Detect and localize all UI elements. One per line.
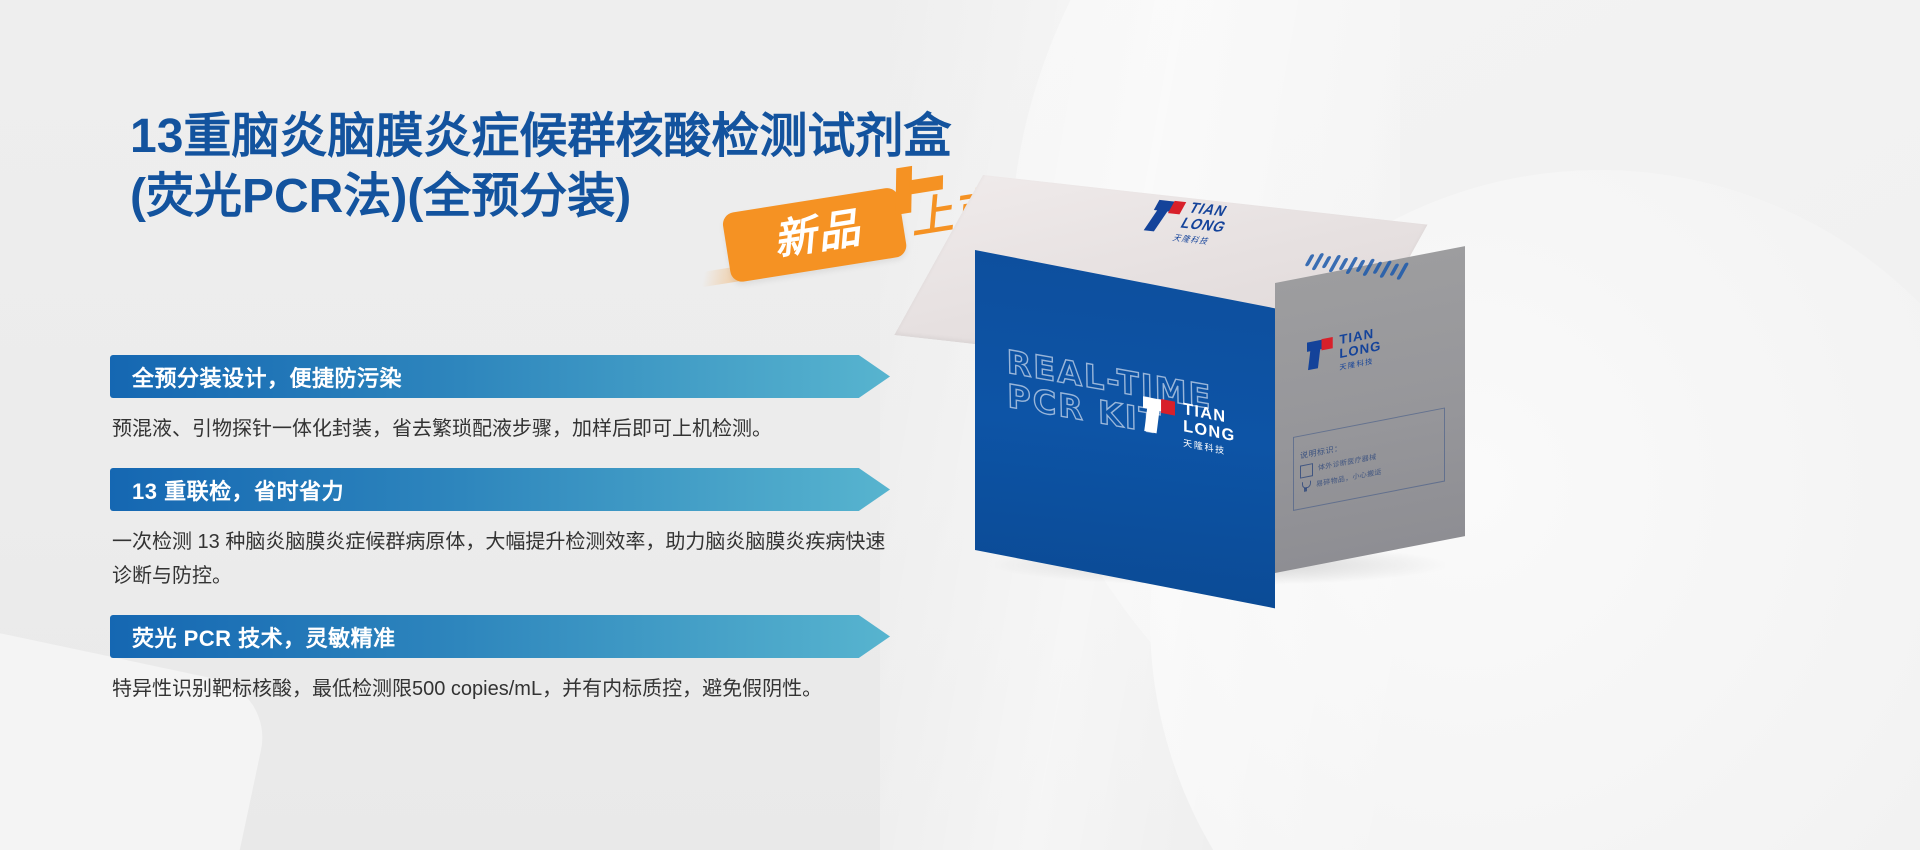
headline-block: 13重脑炎脑膜炎症候群核酸检测试剂盒 (荧光PCR法)(全预分装) 新品 上市 (130, 108, 1010, 226)
feature-bar: 13 重联检，省时省力 (110, 468, 890, 511)
feature-list: 全预分装设计，便捷防污染 预混液、引物探针一体化封装，省去繁琐配液步骤，加样后即… (110, 355, 930, 728)
feature-title: 全预分装设计，便捷防污染 (132, 361, 402, 393)
feature-body: 特异性识别靶标核酸，最低检测限500 copies/mL，并有内标质控，避免假阴… (110, 672, 902, 706)
tianlong-mark-icon (1307, 335, 1333, 370)
tianlong-mark-icon (1143, 393, 1176, 437)
ivd-icon (1300, 463, 1313, 479)
brand-wordmark: TIAN LONG 天隆科技 (1183, 401, 1235, 460)
fragile-glass-icon (1300, 481, 1311, 494)
feature-item: 13 重联检，省时省力 一次检测 13 种脑炎脑膜炎症候群病原体，大幅提升检测效… (110, 468, 930, 593)
feature-title: 荧光 PCR 技术，灵敏精准 (132, 621, 396, 653)
brand-wordmark: TIAN LONG 天隆科技 (1339, 326, 1381, 374)
product-box-image: REAL-TIME PCR KIT (975, 175, 1475, 595)
feature-body: 预混液、引物探针一体化封装，省去繁琐配液步骤，加样后即可上机检测。 (110, 412, 902, 446)
feature-item: 全预分装设计，便捷防污染 预混液、引物探针一体化封装，省去繁琐配液步骤，加样后即… (110, 355, 930, 446)
feature-bar: 全预分装设计，便捷防污染 (110, 355, 890, 398)
feature-item: 荧光 PCR 技术，灵敏精准 特异性识别靶标核酸，最低检测限500 copies… (110, 615, 930, 706)
brand-en-line2: LONG (1177, 215, 1229, 236)
feature-title: 13 重联检，省时省力 (132, 474, 344, 506)
feature-bar: 荧光 PCR 技术，灵敏精准 (110, 615, 890, 658)
feature-body: 一次检测 13 种脑炎脑膜炎症候群病原体，大幅提升检测效率，助力脑炎脑膜炎疾病快… (110, 525, 902, 593)
promo-banner: 13重脑炎脑膜炎症候群核酸检测试剂盒 (荧光PCR法)(全预分装) 新品 上市 … (0, 0, 1920, 850)
page-title-line1: 13重脑炎脑膜炎症候群核酸检测试剂盒 (130, 108, 1010, 166)
